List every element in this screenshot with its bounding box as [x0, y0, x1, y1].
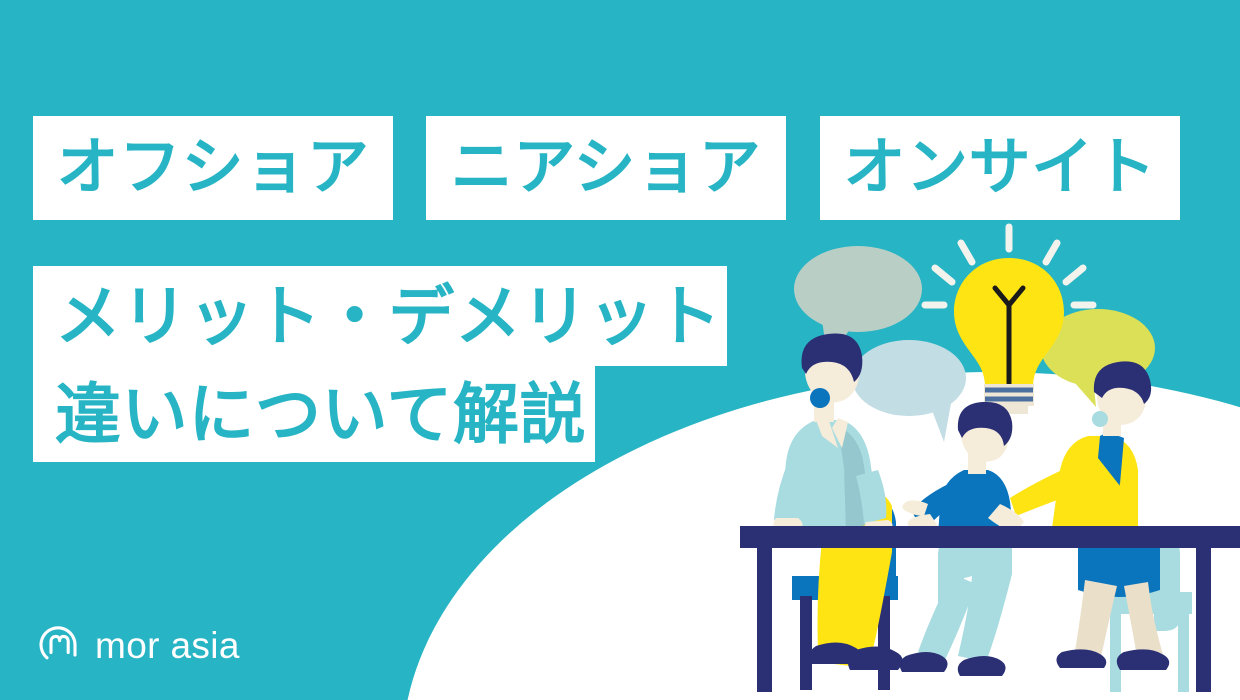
tag-offshore: オフショア	[33, 116, 393, 220]
white-blob-fill	[820, 430, 1240, 700]
headline-line-3-label: 違いについて解説	[55, 381, 586, 447]
headline-line-2: メリット・デメリット	[33, 266, 727, 366]
tag-onsite-label: オンサイト	[843, 137, 1156, 199]
lightbulb-rays	[925, 227, 1093, 305]
mor-asia-circle-m-icon	[35, 622, 81, 668]
banner-root: オフショア ニアショア オンサイト メリット・デメリット 違いについて解説 mo…	[0, 0, 1240, 700]
brand-logo[interactable]: mor asia	[35, 622, 240, 668]
headline-line-3: 違いについて解説	[33, 366, 595, 462]
brand-logo-text: mor asia	[95, 627, 240, 664]
speech-bubble-gray-green	[794, 246, 922, 362]
headline-line-2-label: メリット・デメリット	[55, 283, 722, 349]
tag-onsite: オンサイト	[820, 116, 1180, 220]
tag-offshore-label: オフショア	[56, 137, 369, 199]
tag-nearshore: ニアショア	[426, 116, 786, 220]
tag-nearshore-label: ニアショア	[451, 137, 762, 199]
